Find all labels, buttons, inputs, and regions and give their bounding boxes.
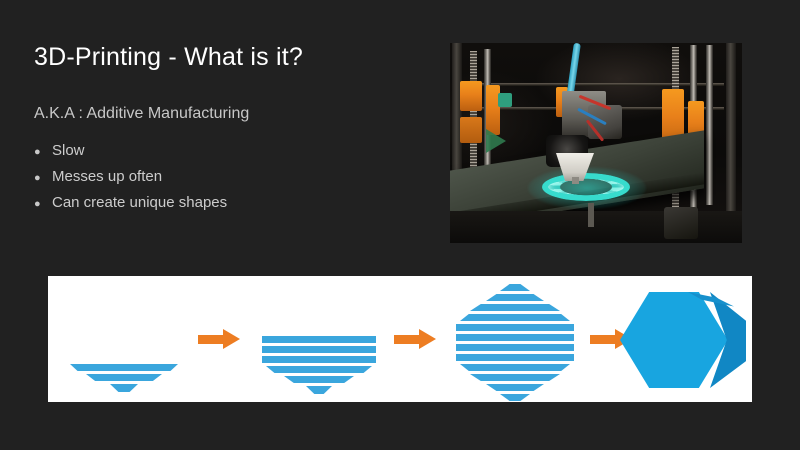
layer-slice: [486, 384, 544, 391]
subtitle: A.K.A : Additive Manufacturing: [34, 105, 249, 123]
process-stage-finished-solid: [614, 276, 764, 402]
smooth-rod-far-right: [706, 45, 713, 205]
list-item-label: Messes up often: [52, 168, 162, 185]
3d-printer-photo: [450, 43, 742, 243]
hexagon-front-face: [620, 292, 728, 388]
carriage-left-bottom: [460, 117, 482, 143]
bullet-dot-icon: ●: [34, 147, 52, 158]
process-arrow-icon: [394, 329, 436, 349]
layer-slice: [456, 324, 574, 331]
process-stage-full-layered: [440, 276, 590, 402]
bullet-list: ● Slow ● Messes up often ● Can create un…: [34, 142, 394, 220]
list-item: ● Messes up often: [34, 168, 394, 194]
layer-slice: [306, 386, 332, 394]
stepper-motor: [664, 207, 698, 239]
layer-slice: [262, 336, 376, 343]
arrow-head: [419, 329, 436, 349]
layer-slice: [500, 284, 530, 291]
list-item-label: Slow: [52, 142, 85, 159]
process-arrow-icon: [198, 329, 240, 349]
layer-slice: [456, 344, 574, 351]
layer-slice: [456, 354, 574, 361]
arrow-shaft: [394, 335, 422, 344]
nozzle-tip: [572, 177, 579, 184]
layer-slice: [284, 376, 354, 383]
green-bracket: [498, 93, 512, 107]
additive-manufacturing-process-diagram: [48, 276, 752, 402]
green-triangle-part: [486, 129, 506, 153]
carriage-left-top: [460, 81, 482, 111]
layer-slice: [456, 334, 574, 341]
process-stage-first-layers: [48, 276, 198, 402]
layer-slice: [86, 374, 162, 381]
layer-slice: [460, 314, 570, 321]
printed-ring-object: [542, 173, 630, 201]
process-stage-lower-half: [244, 276, 394, 402]
layer-slice: [262, 346, 376, 353]
bullet-dot-icon: ●: [34, 199, 52, 210]
list-item-label: Can create unique shapes: [52, 194, 227, 211]
layer-slice: [110, 384, 138, 392]
finished-hexagon: [614, 276, 764, 402]
arrow-head: [223, 329, 240, 349]
layer-slice: [470, 304, 560, 311]
bed-support-foot: [588, 203, 594, 227]
layer-slice: [266, 366, 372, 373]
layer-slice: [486, 294, 544, 301]
layer-slice: [500, 394, 530, 401]
list-item: ● Can create unique shapes: [34, 194, 394, 220]
layer-slice: [470, 374, 560, 381]
layer-slice: [262, 356, 376, 363]
layer-slice: [70, 364, 178, 371]
arrow-shaft: [198, 335, 226, 344]
slide-canvas: 3D-Printing - What is it? A.K.A : Additi…: [0, 0, 800, 450]
layer-slice: [460, 364, 570, 371]
base-frame: [450, 211, 742, 243]
bullet-dot-icon: ●: [34, 173, 52, 184]
page-title: 3D-Printing - What is it?: [34, 43, 303, 72]
list-item: ● Slow: [34, 142, 394, 168]
rail-top: [468, 83, 724, 86]
